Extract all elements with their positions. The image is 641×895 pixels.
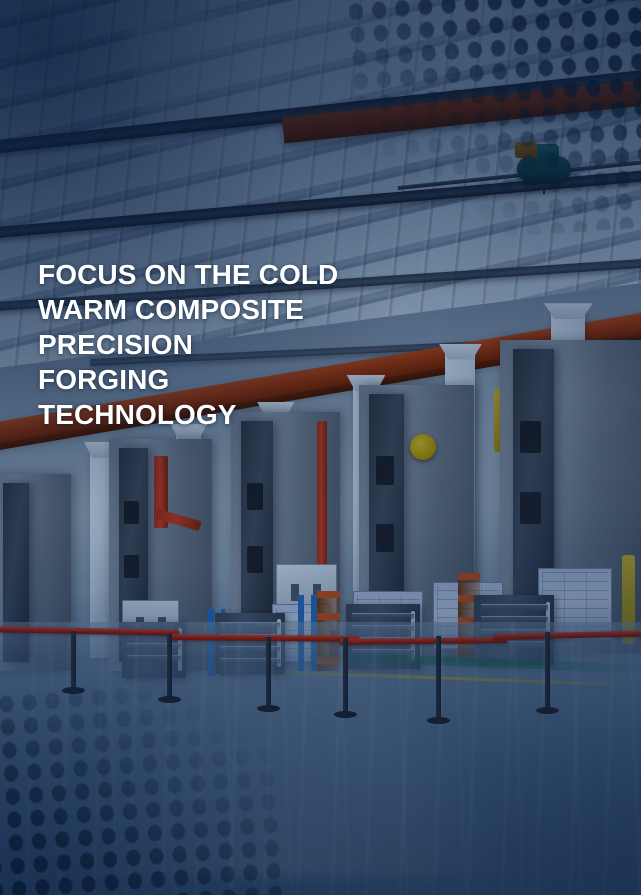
headline-line-2: WARM COMPOSITE [38,292,468,327]
headline-line-4: FORGING [38,362,468,397]
halftone-dots-bottom-left [0,674,284,895]
headline-line-3: PRECISION [38,327,468,362]
headline-line-5: TECHNOLOGY [38,397,468,432]
hero-banner: FOCUS ON THE COLD WARM COMPOSITE PRECISI… [0,0,641,895]
banner-headline: FOCUS ON THE COLD WARM COMPOSITE PRECISI… [38,257,468,432]
headline-line-1: FOCUS ON THE COLD [38,257,468,292]
halftone-dots-top-right [342,0,641,247]
